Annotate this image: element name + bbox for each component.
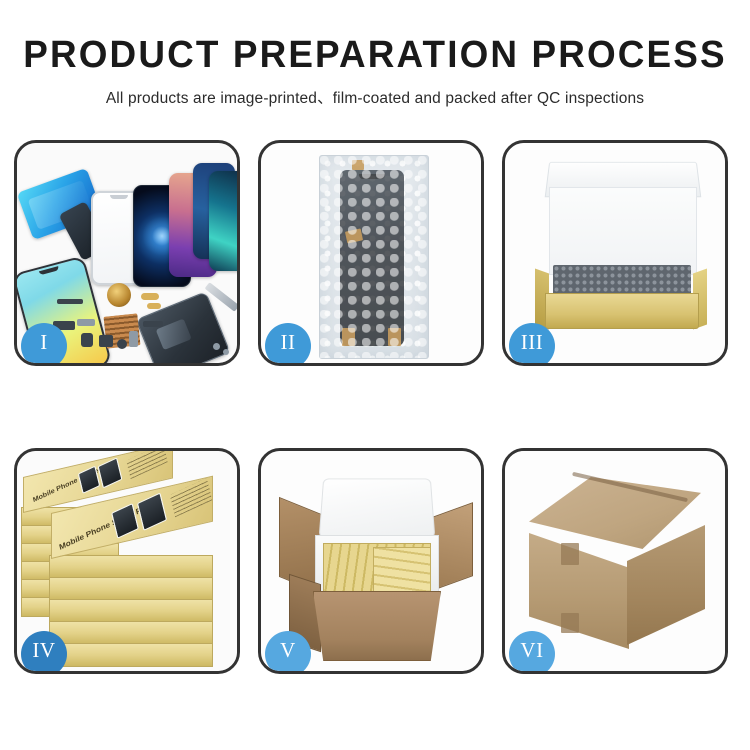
phone-cyan xyxy=(209,171,237,271)
step-badge-1: I xyxy=(21,323,67,366)
speaker-mesh-part xyxy=(77,319,95,326)
gold-coil-part xyxy=(107,283,131,307)
stacked-box xyxy=(49,643,213,667)
step-numeral: III xyxy=(521,330,543,355)
box-spec-lines xyxy=(126,451,168,479)
yellow-boxes-inside xyxy=(373,547,431,593)
screw-part xyxy=(213,343,220,350)
tape-piece xyxy=(342,328,355,346)
step-badge-4: IV xyxy=(21,631,67,674)
box-window-screen xyxy=(98,457,123,488)
gold-connector-part xyxy=(141,293,159,300)
step-badge-3: III xyxy=(509,323,555,366)
box-front-panel-yellow xyxy=(545,293,699,329)
process-step-panel-3: III xyxy=(502,140,728,366)
vibration-motor-part xyxy=(81,333,93,347)
step-numeral: VI xyxy=(520,638,543,663)
stacked-box xyxy=(49,555,213,579)
carton-front-panel xyxy=(313,591,441,661)
flex-cable-part xyxy=(57,299,83,304)
stacked-box xyxy=(49,621,213,645)
tape-piece xyxy=(388,328,401,346)
process-step-panel-6: VI xyxy=(502,448,728,674)
stacked-box xyxy=(49,599,213,623)
gold-bracket-part xyxy=(147,303,161,309)
step-badge-2: II xyxy=(265,323,311,366)
process-step-panel-2: II xyxy=(258,140,484,366)
page-title: PRODUCT PREPARATION PROCESS xyxy=(11,36,739,76)
step-numeral: II xyxy=(281,330,296,355)
process-step-panel-4: Mobile Phone Spare Parts Mobile Phone Sp… xyxy=(14,448,240,674)
process-steps-grid: I II xyxy=(14,140,736,674)
step-numeral: IV xyxy=(32,638,55,663)
bubble-wrap-bag xyxy=(319,155,429,359)
box-window-screen xyxy=(137,492,167,530)
tape-piece xyxy=(352,160,364,170)
antenna-cable-part xyxy=(143,321,163,327)
stacked-box xyxy=(49,577,213,601)
step-numeral: I xyxy=(40,330,48,355)
box-inner-back-wall xyxy=(549,187,697,275)
button-part xyxy=(117,339,127,349)
wrapped-lcd-screen xyxy=(340,170,404,346)
box-spec-lines xyxy=(170,478,212,517)
tape-strip xyxy=(561,613,579,633)
process-step-panel-5: V xyxy=(258,448,484,674)
tape-strip xyxy=(561,543,579,565)
foam-lid-open xyxy=(319,478,436,537)
sim-tray-part xyxy=(99,335,113,347)
screw-part xyxy=(223,349,229,355)
step-numeral: V xyxy=(280,638,296,663)
process-step-panel-1: I xyxy=(14,140,240,366)
step-badge-5: V xyxy=(265,631,311,674)
foam-padding-insert xyxy=(553,265,691,295)
page-subtitle: All products are image-printed、film-coat… xyxy=(0,86,750,108)
step-badge-6: VI xyxy=(509,631,555,674)
page-header: PRODUCT PREPARATION PROCESS All products… xyxy=(0,0,750,108)
connector-part xyxy=(129,331,138,347)
